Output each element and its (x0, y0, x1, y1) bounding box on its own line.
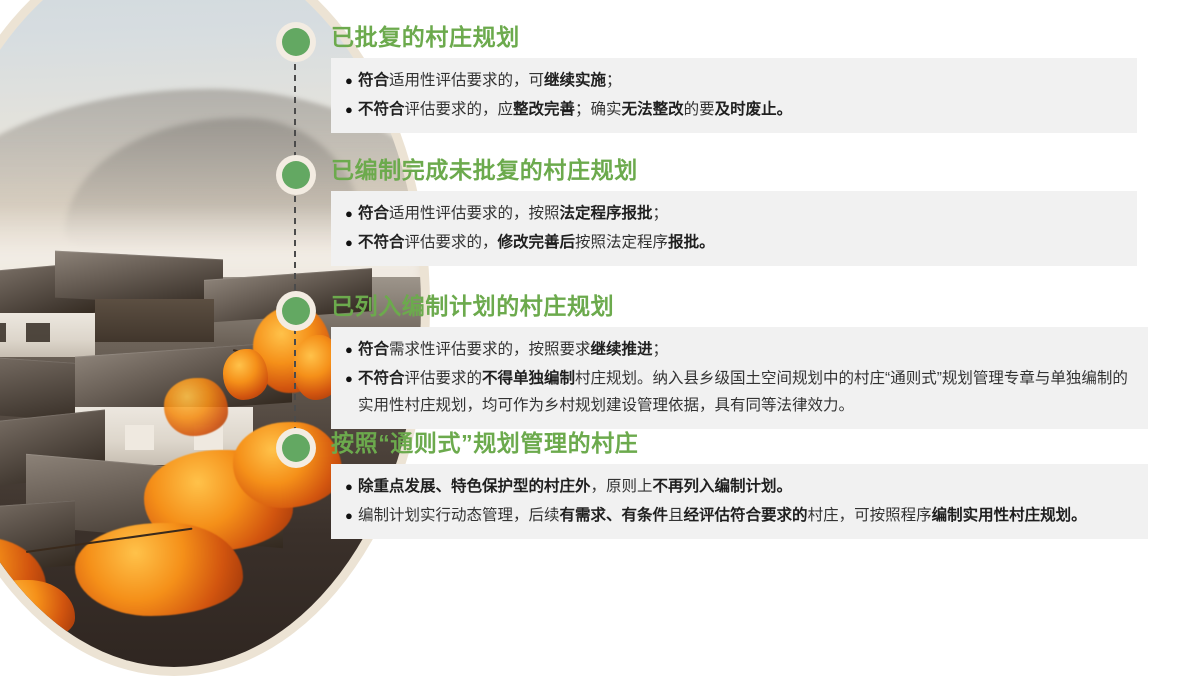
bullet-text: 不符合评估要求的，修改完善后按照法定程序报批。 (358, 229, 1121, 256)
bullet-item: ● 不符合评估要求的不得单独编制村庄规划。纳入县乡级国土空间规划中的村庄“通则式… (345, 365, 1132, 419)
bullet-dot-icon: ● (345, 96, 357, 123)
bullet-text: 不符合评估要求的，应整改完善；确实无法整改的要及时废止。 (358, 96, 1121, 123)
bullet-dot-icon: ● (345, 229, 357, 256)
bullet-dot-icon: ● (345, 502, 357, 529)
section-content-box: ● 除重点发展、特色保护型的村庄外，原则上不再列入编制计划。 ● 编制计划实行动… (331, 464, 1148, 539)
timeline-node-dot-icon (282, 161, 310, 189)
bullet-item: ● 符合适用性评估要求的，按照法定程序报批； (345, 200, 1121, 227)
photo-branch (26, 528, 193, 553)
bullet-dot-icon: ● (345, 365, 357, 392)
photo-roof (0, 501, 75, 581)
section-title: 已编制完成未批复的村庄规划 (331, 155, 1137, 185)
bullet-text: 不符合评估要求的不得单独编制村庄规划。纳入县乡级国土空间规划中的村庄“通则式”规… (358, 365, 1132, 419)
photo-foliage (164, 378, 228, 436)
photo-foliage (0, 537, 46, 624)
photo-wall (0, 313, 95, 356)
bullet-text: 符合需求性评估要求的，按照要求继续推进； (358, 336, 1132, 363)
section-general-rule-village: 按照“通则式”规划管理的村庄 ● 除重点发展、特色保护型的村庄外，原则上不再列入… (331, 428, 1148, 539)
timeline-node-dot-icon (282, 434, 310, 462)
timeline-node-1[interactable] (276, 22, 316, 62)
section-title: 已批复的村庄规划 (331, 22, 1137, 52)
section-content-box: ● 符合适用性评估要求的，可继续实施； ● 不符合评估要求的，应整改完善；确实无… (331, 58, 1137, 133)
bullet-dot-icon: ● (345, 200, 357, 227)
section-completed-unapproved-plan: 已编制完成未批复的村庄规划 ● 符合适用性评估要求的，按照法定程序报批； ● 不… (331, 155, 1137, 266)
bullet-text: 除重点发展、特色保护型的村庄外，原则上不再列入编制计划。 (358, 473, 1132, 500)
photo-window (194, 425, 224, 450)
section-title: 已列入编制计划的村庄规划 (331, 291, 1148, 321)
photo-wall-dark (95, 299, 214, 342)
photo-roof (26, 454, 283, 549)
photo-wall (75, 407, 253, 465)
photo-roof (0, 409, 105, 499)
section-approved-village-plan: 已批复的村庄规划 ● 符合适用性评估要求的，可继续实施； ● 不符合评估要求的，… (331, 22, 1137, 133)
section-title: 按照“通则式”规划管理的村庄 (331, 428, 1148, 458)
bullet-text: 编制计划实行动态管理，后续有需求、有条件且经评估符合要求的村庄，可按照程序编制实… (358, 502, 1132, 529)
photo-roof (0, 349, 105, 423)
timeline-dashed-line (294, 42, 296, 460)
photo-foliage (0, 580, 75, 645)
photo-window (0, 323, 6, 342)
photo-foliage (223, 349, 267, 400)
photo-mountain-near (65, 118, 361, 248)
timeline-node-dot-icon (282, 297, 310, 325)
bullet-text: 符合适用性评估要求的，按照法定程序报批； (358, 200, 1121, 227)
photo-window (26, 323, 51, 342)
bullet-dot-icon: ● (345, 67, 357, 94)
bullet-item: ● 编制计划实行动态管理，后续有需求、有条件且经评估符合要求的村庄，可按照程序编… (345, 502, 1132, 529)
bullet-item: ● 不符合评估要求的，应整改完善；确实无法整改的要及时废止。 (345, 96, 1121, 123)
photo-roof (55, 251, 223, 307)
photo-foliage (75, 523, 243, 617)
bullet-dot-icon: ● (345, 473, 357, 500)
bullet-text: 符合适用性评估要求的，可继续实施； (358, 67, 1121, 94)
section-in-plan-list: 已列入编制计划的村庄规划 ● 符合需求性评估要求的，按照要求继续推进； ● 不符… (331, 291, 1148, 429)
timeline (276, 0, 316, 610)
timeline-node-2[interactable] (276, 155, 316, 195)
photo-roof (0, 261, 105, 330)
bullet-item: ● 不符合评估要求的，修改完善后按照法定程序报批。 (345, 229, 1121, 256)
photo-window (125, 425, 155, 450)
bullet-item: ● 符合需求性评估要求的，按照要求继续推进； (345, 336, 1132, 363)
bullet-dot-icon: ● (345, 336, 357, 363)
section-content-box: ● 符合需求性评估要求的，按照要求继续推进； ● 不符合评估要求的不得单独编制村… (331, 327, 1148, 429)
photo-roof (75, 342, 292, 419)
bullet-item: ● 除重点发展、特色保护型的村庄外，原则上不再列入编制计划。 (345, 473, 1132, 500)
bullet-item: ● 符合适用性评估要求的，可继续实施； (345, 67, 1121, 94)
photo-foliage (144, 450, 292, 551)
timeline-node-3[interactable] (276, 291, 316, 331)
timeline-node-dot-icon (282, 28, 310, 56)
section-content-box: ● 符合适用性评估要求的，按照法定程序报批； ● 不符合评估要求的，修改完善后按… (331, 191, 1137, 266)
timeline-node-4[interactable] (276, 428, 316, 468)
